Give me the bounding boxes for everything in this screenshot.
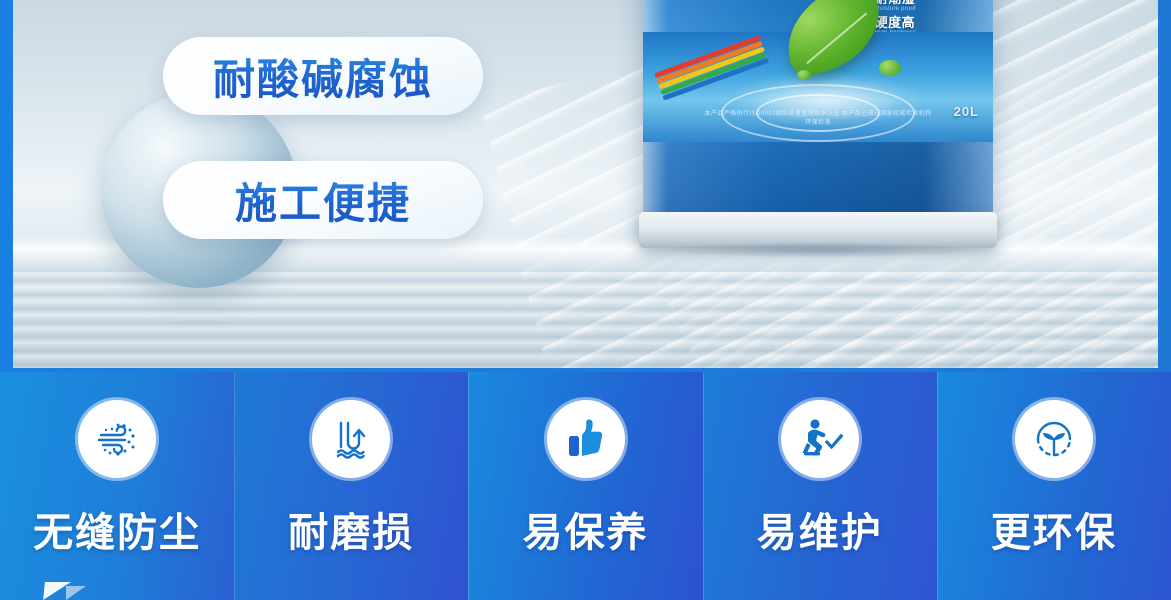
feature-pill-label: 耐酸碱腐蚀 xyxy=(213,46,433,107)
hero-section: 耐酸碱腐蚀 施工便捷 水性环保涂料 Waterborn environmenta… xyxy=(0,0,1171,372)
checklist-label-cn: 耐潮湿 xyxy=(875,0,916,5)
dust-wind-icon xyxy=(78,400,156,478)
wear-resistance-icon xyxy=(312,400,390,478)
paint-bucket-product[interactable]: 水性环保涂料 Waterborn environmental Coatings … xyxy=(643,0,993,254)
feature-bar: 无缝防尘 耐磨损 xyxy=(0,372,1171,600)
hero-background: 耐酸碱腐蚀 施工便捷 水性环保涂料 Waterborn environmenta… xyxy=(13,0,1158,368)
feature-item-easy-service[interactable]: 易维护 xyxy=(703,372,937,600)
feature-item-wear-resistant[interactable]: 耐磨损 xyxy=(234,372,468,600)
feature-label: 易维护 xyxy=(757,500,883,558)
feature-label: 易保养 xyxy=(523,500,649,558)
checklist-label-cn: 硬度高 xyxy=(875,16,916,29)
product-feature-banner: 耐酸碱腐蚀 施工便捷 水性环保涂料 Waterborn environmenta… xyxy=(0,0,1171,600)
feature-pill-acid-alkali[interactable]: 耐酸碱腐蚀 xyxy=(163,37,483,115)
bucket-shadow xyxy=(653,242,983,258)
leaf-bud-small-icon xyxy=(797,70,811,80)
bucket-body: 水性环保涂料 Waterborn environmental Coatings … xyxy=(643,0,993,234)
feature-label: 更环保 xyxy=(991,500,1117,558)
product-fine-print: 本产品严格执行ISO9001国际质量管理体系认证 本产品已通过国家权威检测机构环… xyxy=(703,110,933,128)
feature-pill-label: 施工便捷 xyxy=(235,170,411,231)
leaf-bud-icon xyxy=(879,60,901,76)
bottom-chevron-secondary-icon xyxy=(66,586,86,600)
thumbs-up-icon xyxy=(547,400,625,478)
feature-label: 耐磨损 xyxy=(288,500,414,558)
feature-item-dustproof[interactable]: 无缝防尘 xyxy=(0,372,234,600)
feature-pill-easy-construction[interactable]: 施工便捷 xyxy=(163,161,483,239)
product-volume: 20L xyxy=(954,104,979,119)
feature-item-eco-friendly[interactable]: 更环保 xyxy=(937,372,1171,600)
sprout-eco-icon xyxy=(1015,400,1093,478)
feature-label: 无缝防尘 xyxy=(33,500,201,558)
worker-check-icon xyxy=(781,400,859,478)
checklist-label-en: Moisture proof xyxy=(875,6,916,12)
feature-item-easy-maintain[interactable]: 易保养 xyxy=(468,372,702,600)
